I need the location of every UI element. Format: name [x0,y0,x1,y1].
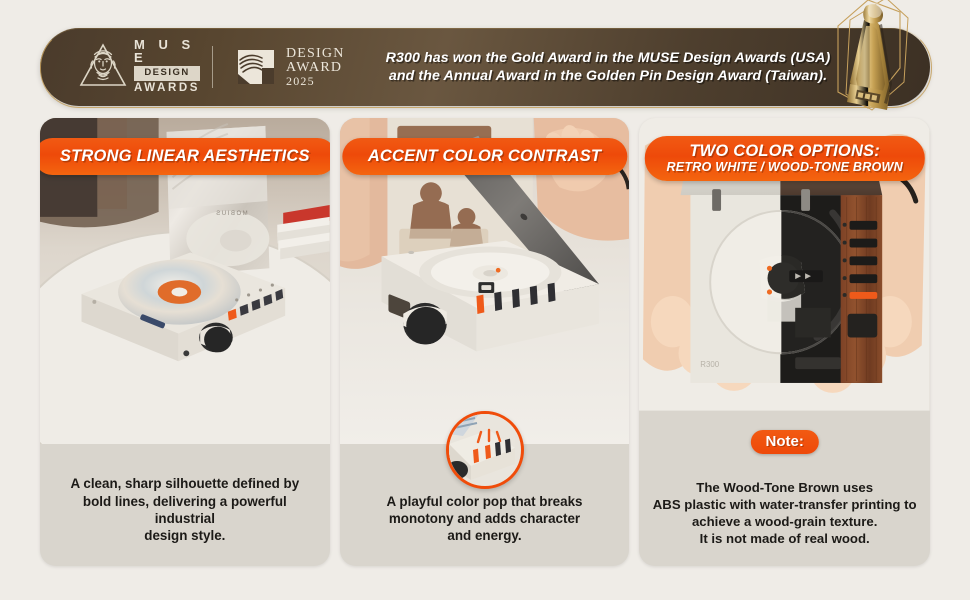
award-headline-line1: R300 has won the Gold Award in the MUSE … [358,49,858,67]
muse-logo-line2: DESIGN [134,66,200,81]
card1-caption-line2: bold lines, delivering a powerful indust… [52,493,318,527]
logo-divider [212,46,213,88]
gp-logo-line2: AWARD [286,61,345,75]
award-banner: M U S E DESIGN AWARDS [40,28,930,106]
card2-inset-callout [446,411,524,489]
muse-logo-line3: AWARDS [134,83,200,95]
card2-caption: A playful color pop that breaks monotony… [352,493,618,544]
card1-caption-line3: design style. [52,527,318,544]
note-badge: Note: [751,430,819,454]
promo-page: M U S E DESIGN AWARDS [0,0,970,600]
card1-badge: STRONG LINEAR AESTHETICS [40,138,330,175]
card3-caption-line2: ABS plastic with water-transfer printing… [651,497,918,514]
feature-cards: MOBIUS [40,118,930,566]
card3-badge-line2: RETRO WHITE / WOOD-TONE BROWN [666,160,902,174]
card3-caption-line4: It is not made of real wood. [651,531,918,548]
card1-caption: A clean, sharp silhouette defined by bol… [52,475,318,544]
design-award-2025-logo: DESIGN AWARD 2025 [236,42,366,92]
card3-caption-line3: achieve a wood-grain texture. [651,514,918,531]
card2-caption-line2: monotony and adds character [352,510,618,527]
card3-badge-line1: TWO COLOR OPTIONS: [666,142,902,160]
svg-text:MOBIUS: MOBIUS [215,211,248,217]
golden-pin-mark-icon [236,46,278,88]
award-headline: R300 has won the Gold Award in the MUSE … [358,49,858,85]
card-accent-color-contrast[interactable]: ACCENT COLOR CONTRAST [340,118,630,566]
card3-caption-line1: The Wood-Tone Brown uses [651,480,918,497]
gp-logo-line1: DESIGN [286,47,345,61]
card-strong-linear-aesthetics[interactable]: MOBIUS [40,118,330,566]
muse-design-awards-logo: M U S E DESIGN AWARDS [78,37,198,95]
gp-logo-line3: 2025 [286,75,345,87]
muse-goddess-triangle-icon [78,41,128,91]
award-headline-line2: and the Annual Award in the Golden Pin D… [358,67,858,85]
card2-caption-line3: and energy. [352,527,618,544]
card2-caption-line1: A playful color pop that breaks [352,493,618,510]
card1-caption-line1: A clean, sharp silhouette defined by [52,475,318,492]
card3-badge: TWO COLOR OPTIONS: RETRO WHITE / WOOD-TO… [644,136,924,181]
card-two-color-options[interactable]: R300 TWO COLOR OPTIONS: RETRO WHITE / WO… [639,118,930,566]
card3-caption: The Wood-Tone Brown uses ABS plastic wit… [651,480,918,548]
svg-text:R300: R300 [701,360,720,369]
muse-logo-line1: M U S E [134,38,200,64]
gold-trophy-statuette-icon [816,0,926,112]
card2-badge: ACCENT COLOR CONTRAST [342,138,627,175]
